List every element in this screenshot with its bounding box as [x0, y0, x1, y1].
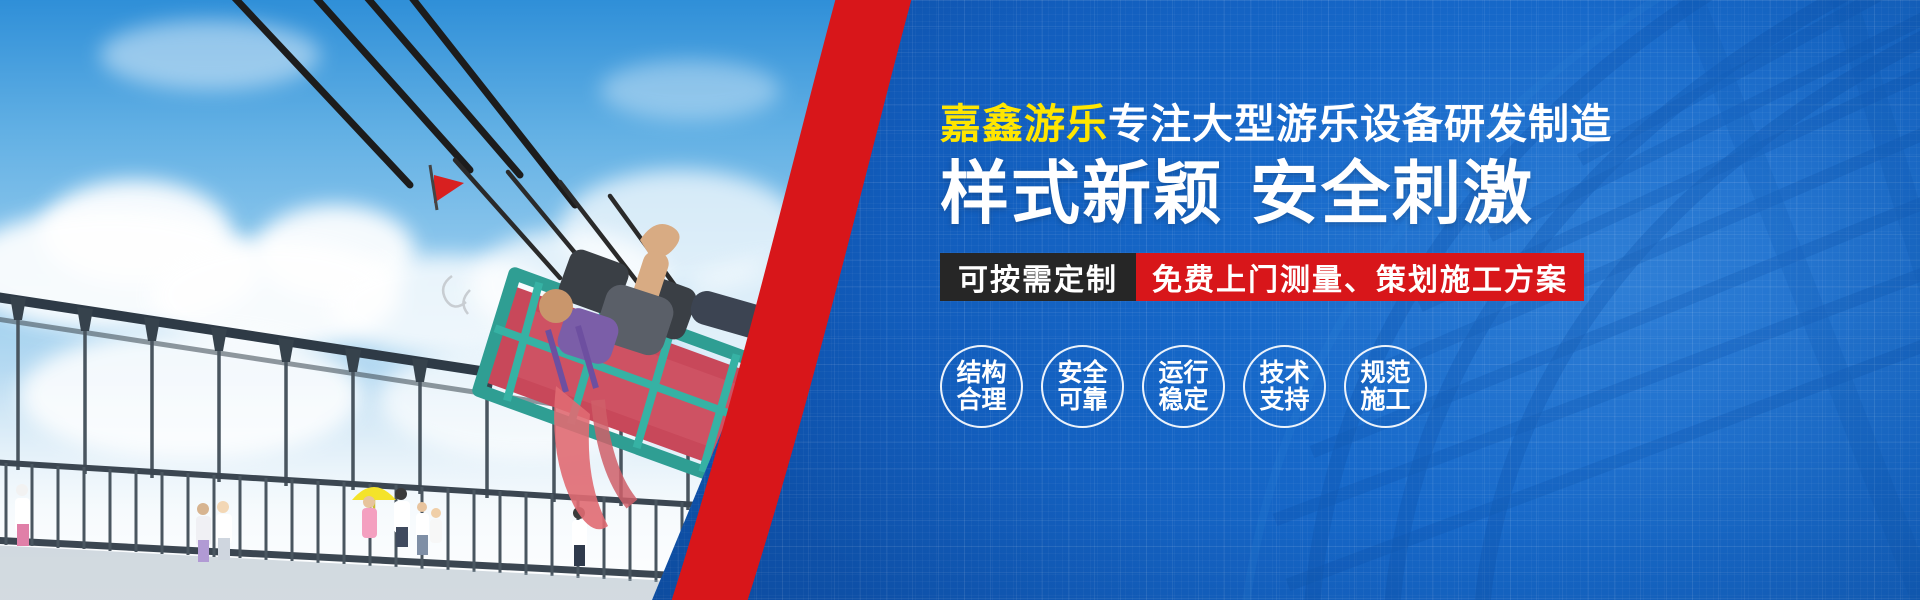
eyebrow-headline: 嘉鑫游乐专注大型游乐设备研发制造 [940, 104, 1612, 145]
feature-circle: 结构 合理 [940, 345, 1023, 428]
feature-line-bottom: 可靠 [1057, 387, 1107, 414]
feature-circle: 规范 施工 [1344, 345, 1427, 428]
feature-line-bottom: 合理 [956, 387, 1006, 414]
free-service-chip: 免费上门测量、策划施工方案 [1136, 253, 1584, 301]
feature-line-bottom: 施工 [1360, 387, 1410, 414]
brand-name: 嘉鑫游乐 [940, 101, 1108, 147]
feature-line-top: 结构 [956, 360, 1006, 387]
eyebrow-rest: 专注大型游乐设备研发制造 [1108, 101, 1612, 147]
feature-line-bottom: 支持 [1259, 387, 1309, 414]
feature-line-top: 规范 [1360, 360, 1410, 387]
feature-circle: 安全 可靠 [1041, 345, 1124, 428]
feature-circle-list: 结构 合理 安全 可靠 运行 稳定 技术 支持 规范 施工 [940, 345, 1427, 428]
headline-part-2: 安全刺激 [1250, 155, 1534, 232]
banner-content: 嘉鑫游乐专注大型游乐设备研发制造 样式新颖安全刺激 可按需定制 免费上门测量、策… [940, 0, 1640, 600]
feature-line-top: 运行 [1158, 360, 1208, 387]
feature-line-top: 技术 [1259, 360, 1309, 387]
feature-line-bottom: 稳定 [1158, 387, 1208, 414]
feature-circle: 技术 支持 [1243, 345, 1326, 428]
feature-circle: 运行 稳定 [1142, 345, 1225, 428]
main-headline: 样式新颖安全刺激 [940, 159, 1534, 228]
feature-line-top: 安全 [1057, 360, 1107, 387]
headline-part-1: 样式新颖 [940, 155, 1224, 232]
custom-order-chip: 可按需定制 [940, 253, 1136, 301]
promo-banner: 嘉鑫游乐专注大型游乐设备研发制造 样式新颖安全刺激 可按需定制 免费上门测量、策… [0, 0, 1920, 600]
offer-strip: 可按需定制 免费上门测量、策划施工方案 [940, 253, 1584, 301]
